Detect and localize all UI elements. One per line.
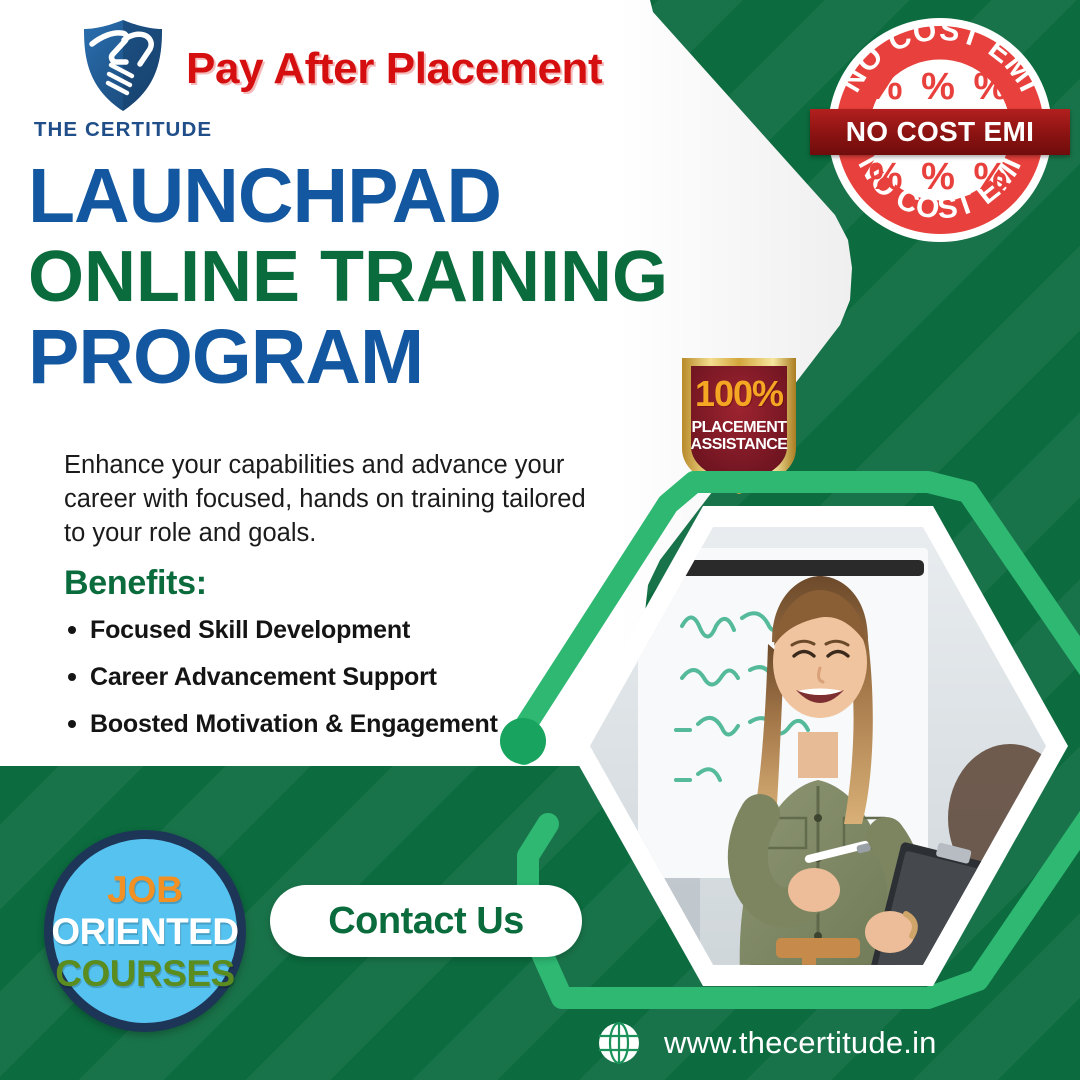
svg-text:% % %: % % %	[869, 66, 1011, 108]
emi-ribbon-label: NO COST EMI	[810, 109, 1070, 155]
benefits-heading: Benefits:	[64, 564, 207, 603]
poster-canvas: THE CERTITUDE Pay After Placement LAUNCH…	[0, 0, 1080, 1080]
job-oriented-courses-badge: JOB ORIENTED COURSES	[44, 830, 246, 1032]
course-badge-line-2: ORIENTED	[51, 913, 238, 950]
pay-after-placement-tagline: Pay After Placement	[186, 44, 602, 94]
course-badge-line-1: JOB	[107, 871, 183, 908]
course-badge-line-3: COURSES	[55, 955, 234, 992]
svg-text:% % %: % % %	[869, 156, 1011, 198]
headline-line-1: LAUNCHPAD	[28, 160, 828, 234]
website-url[interactable]: www.thecertitude.in	[664, 1025, 937, 1061]
globe-icon	[598, 1022, 640, 1064]
green-dot-accent	[500, 718, 546, 764]
contact-us-button[interactable]: Contact Us	[270, 885, 582, 957]
shield-handshake-icon	[80, 18, 166, 114]
hero-photo-frame	[568, 496, 1068, 996]
headline-line-2: ONLINE TRAINING	[28, 243, 828, 312]
logo-wordmark: THE CERTITUDE	[28, 118, 218, 142]
no-cost-emi-stamp: NO COST EMI NO COST EMI % % % % % % NO C…	[824, 14, 1056, 246]
footer: www.thecertitude.in	[598, 1022, 937, 1064]
